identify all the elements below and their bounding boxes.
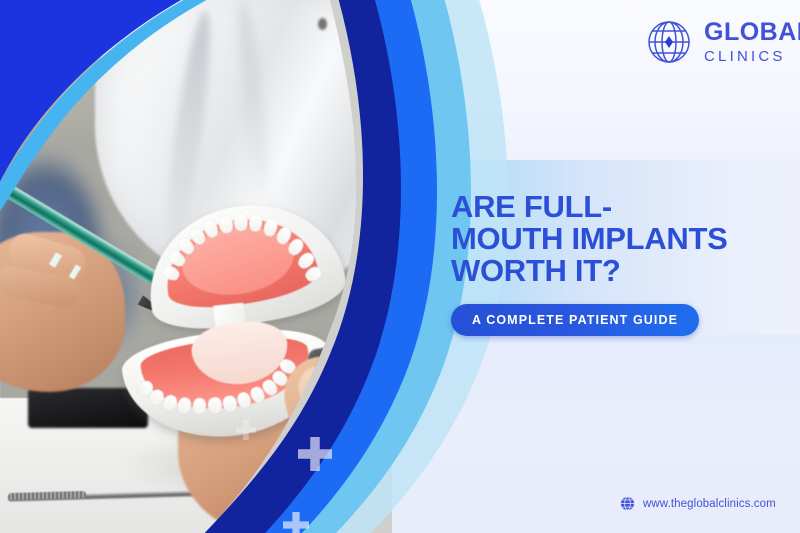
brand-logo[interactable]: GLOBAL CLINICS [645, 18, 800, 66]
dental-jaw-model [120, 198, 370, 448]
headline-line-3: WORTH IT? [451, 255, 781, 287]
globe-icon [620, 496, 635, 511]
headline-line-1: ARE FULL- [451, 191, 781, 223]
globe-center-diamond [665, 36, 673, 48]
brand-subtitle: CLINICS [704, 49, 800, 64]
globe-grid-icon [645, 18, 693, 66]
coat-button [318, 18, 327, 30]
promo-banner: GLOBAL CLINICS ARE FULL- MOUTH IMPLANTS … [0, 0, 800, 533]
brand-name: GLOBAL [704, 20, 800, 45]
headline-line-2: MOUTH IMPLANTS [451, 223, 781, 255]
website-footer[interactable]: www.theglobalclinics.com [620, 496, 776, 511]
hero-photo [0, 0, 392, 533]
subtitle-badge[interactable]: A COMPLETE PATIENT GUIDE [451, 304, 699, 336]
website-url[interactable]: www.theglobalclinics.com [643, 498, 776, 510]
page-title: ARE FULL- MOUTH IMPLANTS WORTH IT? [451, 191, 781, 288]
